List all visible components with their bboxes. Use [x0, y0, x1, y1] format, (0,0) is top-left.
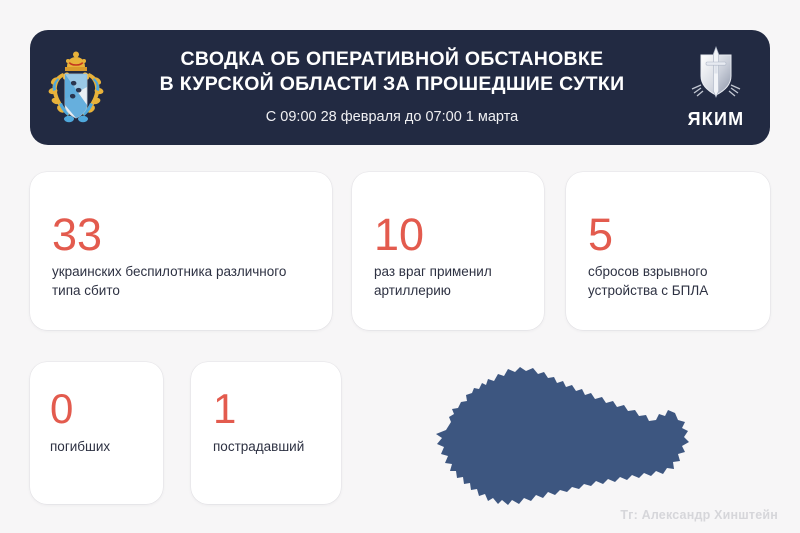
- stat-value: 5: [588, 212, 756, 257]
- yakim-logo-text: ЯКИМ: [688, 109, 745, 130]
- stat-card-injured: 1 пострадавший: [191, 362, 341, 504]
- page-title-line-1: СВОДКА ОБ ОПЕРАТИВНОЙ ОБСТАНОВКЕ: [181, 47, 604, 72]
- stat-card-drones-downed: 33 украинских беспилотника различного ти…: [30, 172, 332, 330]
- page-title-line-2: В КУРСКОЙ ОБЛАСТИ ЗА ПРОШЕДШИЕ СУТКИ: [160, 72, 625, 97]
- kursk-oblast-coat-of-arms: [30, 30, 122, 145]
- stat-value: 10: [374, 212, 530, 257]
- map-region-shape: [436, 367, 689, 505]
- infographic-page: СВОДКА ОБ ОПЕРАТИВНОЙ ОБСТАНОВКЕ В КУРСК…: [0, 0, 800, 533]
- header-banner: СВОДКА ОБ ОПЕРАТИВНОЙ ОБСТАНОВКЕ В КУРСК…: [30, 30, 770, 145]
- stat-label: раз враг применил артиллерию: [374, 263, 530, 300]
- stat-value: 0: [50, 388, 151, 430]
- stat-value: 1: [213, 388, 329, 430]
- shield-sword-icon: [689, 45, 743, 106]
- stat-label: погибших: [50, 438, 151, 457]
- stat-label: пострадавший: [213, 438, 329, 457]
- kursk-oblast-map-silhouette: [430, 358, 695, 510]
- stat-card-explosive-drops: 5 сбросов взрывного устройства с БПЛА: [566, 172, 770, 330]
- stat-label: украинских беспилотника различного типа …: [52, 263, 318, 300]
- header-text-block: СВОДКА ОБ ОПЕРАТИВНОЙ ОБСТАНОВКЕ В КУРСК…: [122, 47, 662, 129]
- telegram-watermark: Тг: Александр Хинштейн: [620, 508, 778, 522]
- stat-card-artillery-strikes: 10 раз враг применил артиллерию: [352, 172, 544, 330]
- report-period-subtitle: С 09:00 28 февраля до 07:00 1 марта: [266, 108, 518, 127]
- stat-value: 33: [52, 212, 318, 257]
- stat-label: сбросов взрывного устройства с БПЛА: [588, 263, 756, 300]
- stat-card-killed: 0 погибших: [30, 362, 163, 504]
- yakim-logo: ЯКИМ: [662, 30, 770, 145]
